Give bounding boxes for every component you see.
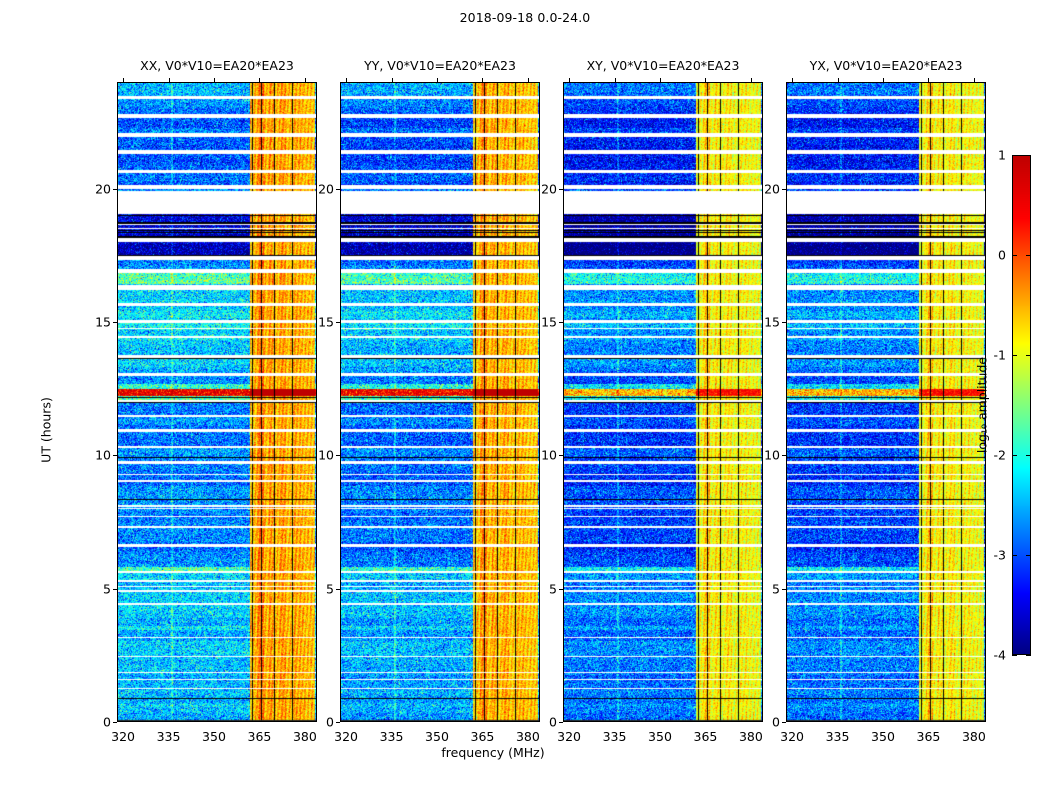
colorbar-tick-label: 0 — [978, 248, 1006, 263]
colorbar-tick-label: 1 — [978, 148, 1006, 163]
colorbar-tick-mark — [1012, 155, 1017, 156]
colorbar-ticks: 10-1-2-3-4 — [0, 0, 1050, 800]
colorbar-tick-mark — [1012, 655, 1017, 656]
colorbar-axis-label: log₁₀ amplitude — [975, 357, 990, 453]
colorbar-tick-mark — [1026, 655, 1031, 656]
colorbar-tick-mark — [1012, 255, 1017, 256]
figure-root: 2018-09-18 0.0-24.0 UT (hours) frequency… — [0, 0, 1050, 800]
colorbar-tick-mark — [1026, 355, 1031, 356]
colorbar-tick-mark — [1012, 555, 1017, 556]
colorbar-tick-mark — [1026, 455, 1031, 456]
colorbar-tick-mark — [1026, 255, 1031, 256]
colorbar-tick-mark — [1026, 555, 1031, 556]
colorbar-tick-label: -4 — [978, 648, 1006, 663]
colorbar-tick-label: -3 — [978, 548, 1006, 563]
colorbar-tick-mark — [1026, 155, 1031, 156]
colorbar-tick-mark — [1012, 455, 1017, 456]
colorbar-tick-mark — [1012, 355, 1017, 356]
